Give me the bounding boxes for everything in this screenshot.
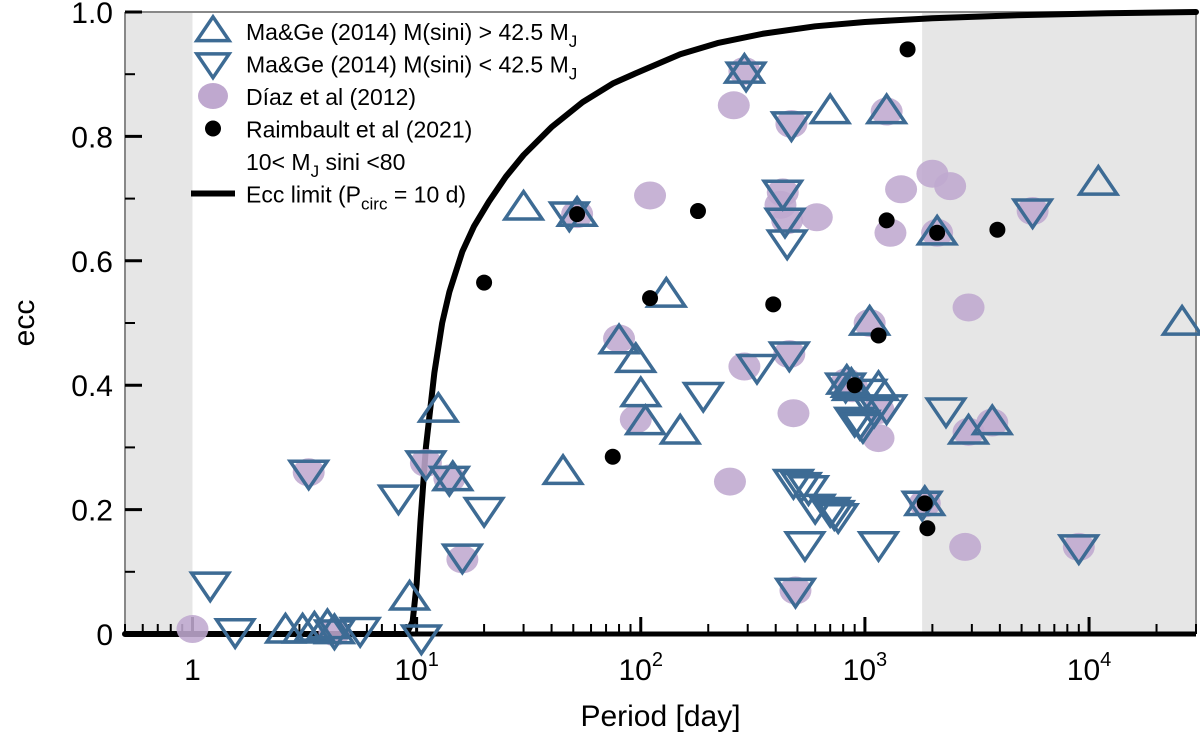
data-point-triangle-up xyxy=(812,95,849,122)
legend-label: Díaz et al (2012) xyxy=(246,84,416,110)
x-axis-title: Period [day] xyxy=(580,700,740,733)
legend: Ma&Ge (2014) M(sini) > 42.5 MJMa&Ge (201… xyxy=(191,17,577,214)
legend-item[interactable]: Ecc limit (Pcirc = 10 d) xyxy=(191,182,466,214)
legend-item[interactable]: Ma&Ge (2014) M(sini) > 42.5 MJ xyxy=(197,17,577,51)
data-point-circle xyxy=(634,181,666,209)
data-point-circle xyxy=(885,175,917,203)
data-point-circle xyxy=(714,468,746,496)
y-tick-label: 0.6 xyxy=(71,246,113,279)
data-point-triangle-up xyxy=(544,456,581,483)
data-point-triangle-up xyxy=(505,192,542,219)
y-tick-label: 0.2 xyxy=(71,495,113,528)
data-point-dot xyxy=(605,449,621,465)
legend-marker-triangle-up-icon xyxy=(197,17,229,41)
legend-marker-circle-icon xyxy=(198,83,228,109)
x-tick-label: 101 xyxy=(394,649,439,687)
data-point-triangle-down xyxy=(192,573,229,600)
data-point-circle xyxy=(934,172,966,200)
data-point-dot xyxy=(569,206,585,222)
x-tick-label: 103 xyxy=(843,649,888,687)
data-point-circle xyxy=(603,325,635,353)
data-point-circle xyxy=(718,91,750,119)
legend-marker-dot-icon xyxy=(205,121,221,137)
data-point-triangle-up xyxy=(391,582,428,609)
y-tick-label: 0.4 xyxy=(71,370,113,403)
data-point-dot xyxy=(642,290,658,306)
legend-label: Ma&Ge (2014) M(sini) < 42.5 MJ xyxy=(246,52,577,84)
y-tick-label: 0.8 xyxy=(71,121,113,154)
legend-marker-triangle-down-icon xyxy=(197,54,229,78)
data-point-dot xyxy=(847,377,863,393)
data-point-circle xyxy=(953,293,985,321)
data-point-dot xyxy=(879,212,895,228)
data-point-circle xyxy=(801,203,833,231)
data-point-triangle-up xyxy=(662,415,699,442)
x-tick-label: 1 xyxy=(184,654,201,687)
legend-label: Ecc limit (Pcirc = 10 d) xyxy=(246,182,466,214)
legend-item[interactable]: Ma&Ge (2014) M(sini) < 42.5 MJ xyxy=(197,52,577,84)
data-point-circle xyxy=(176,615,208,643)
y-tick-label: 0 xyxy=(96,619,113,652)
y-axis-title: ecc xyxy=(8,300,41,347)
y-tick-label: 1.0 xyxy=(71,0,113,30)
data-point-circle xyxy=(777,399,809,427)
data-point-triangle-down xyxy=(786,533,823,560)
data-point-triangle-down xyxy=(465,499,502,526)
data-point-circle xyxy=(446,545,478,573)
scatter-plot-svg: 110110210310400.20.40.60.81.0 Period [da… xyxy=(0,0,1200,744)
legend-item[interactable]: Raimbault et al (2021) xyxy=(205,117,472,143)
data-point-dot xyxy=(989,222,1005,238)
data-point-dot xyxy=(929,225,945,241)
data-point-circle xyxy=(949,533,981,561)
data-point-dot xyxy=(919,520,935,536)
legend-label: 10< MJ sini <80 xyxy=(246,149,405,181)
data-point-triangle-down xyxy=(380,486,417,513)
data-point-dot xyxy=(476,275,492,291)
left-shaded-band xyxy=(125,12,192,634)
data-point-dot xyxy=(765,296,781,312)
data-point-dot xyxy=(871,327,887,343)
data-point-dot xyxy=(900,41,916,57)
x-tick-label: 102 xyxy=(619,649,664,687)
x-tick-label: 104 xyxy=(1067,649,1112,687)
data-point-triangle-up xyxy=(622,378,659,405)
data-point-dot xyxy=(690,203,706,219)
ecc-vs-period-figure: 110110210310400.20.40.60.81.0 Period [da… xyxy=(0,0,1200,744)
legend-label: Ma&Ge (2014) M(sini) > 42.5 MJ xyxy=(246,19,577,51)
data-point-triangle-down xyxy=(685,383,722,410)
data-point-dot xyxy=(917,495,933,511)
legend-label: Raimbault et al (2021) xyxy=(246,117,472,143)
data-point-triangle-up xyxy=(420,394,457,421)
data-point-triangle-down xyxy=(860,533,897,560)
legend-item[interactable]: Díaz et al (2012) xyxy=(198,83,416,110)
legend-item[interactable]: 10< MJ sini <80 xyxy=(246,149,405,181)
